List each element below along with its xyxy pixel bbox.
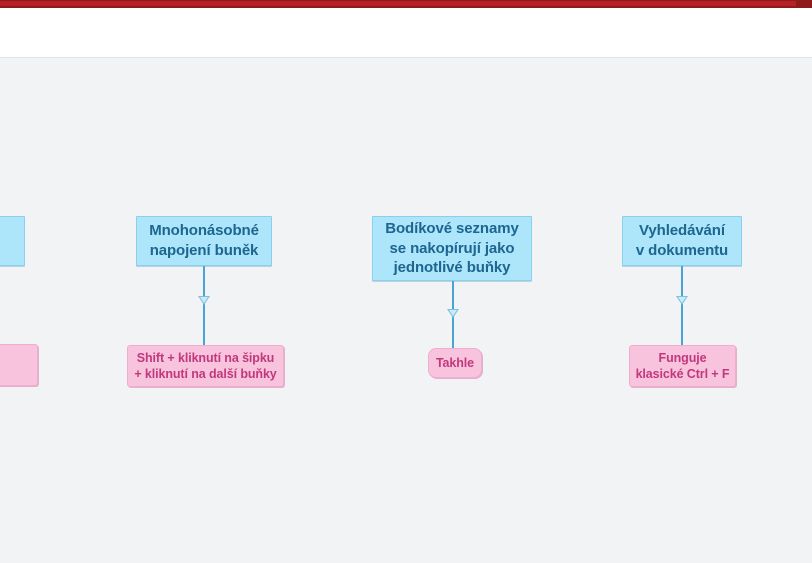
- mindmap-note-node[interactable]: Shift + kliknutí na šipku + kliknutí na …: [127, 345, 284, 387]
- mindmap-topic-node[interactable]: Vyhledávání v dokumentu: [622, 216, 742, 266]
- window-accent-bar: [0, 0, 812, 8]
- app-header-bar[interactable]: [0, 8, 812, 58]
- connector-line: [203, 266, 205, 345]
- mindmap-content-layer: ní vě uňky ylu Mnohonásobné napojení bun…: [0, 59, 812, 563]
- mindmap-note-node[interactable]: Takhle: [428, 348, 482, 378]
- mindmap-note-node[interactable]: Funguje klasické Ctrl + F: [629, 345, 736, 387]
- connector-arrow-icon: [198, 296, 210, 305]
- mindmap-canvas[interactable]: ní vě uňky ylu Mnohonásobné napojení bun…: [0, 59, 812, 563]
- application-window: ní vě uňky ylu Mnohonásobné napojení bun…: [0, 0, 812, 563]
- connector-arrow-icon: [447, 309, 459, 318]
- window-accent-bar-inner: [0, 1, 796, 6]
- mindmap-topic-node[interactable]: Mnohonásobné napojení buněk: [136, 216, 272, 266]
- mindmap-note-node[interactable]: uňky ylu: [0, 344, 38, 386]
- mindmap-topic-node[interactable]: ní vě: [0, 216, 25, 266]
- connector-line: [681, 266, 683, 345]
- mindmap-topic-node[interactable]: Bodíkové seznamy se nakopírují jako jedn…: [372, 216, 532, 281]
- connector-arrow-icon: [676, 296, 688, 305]
